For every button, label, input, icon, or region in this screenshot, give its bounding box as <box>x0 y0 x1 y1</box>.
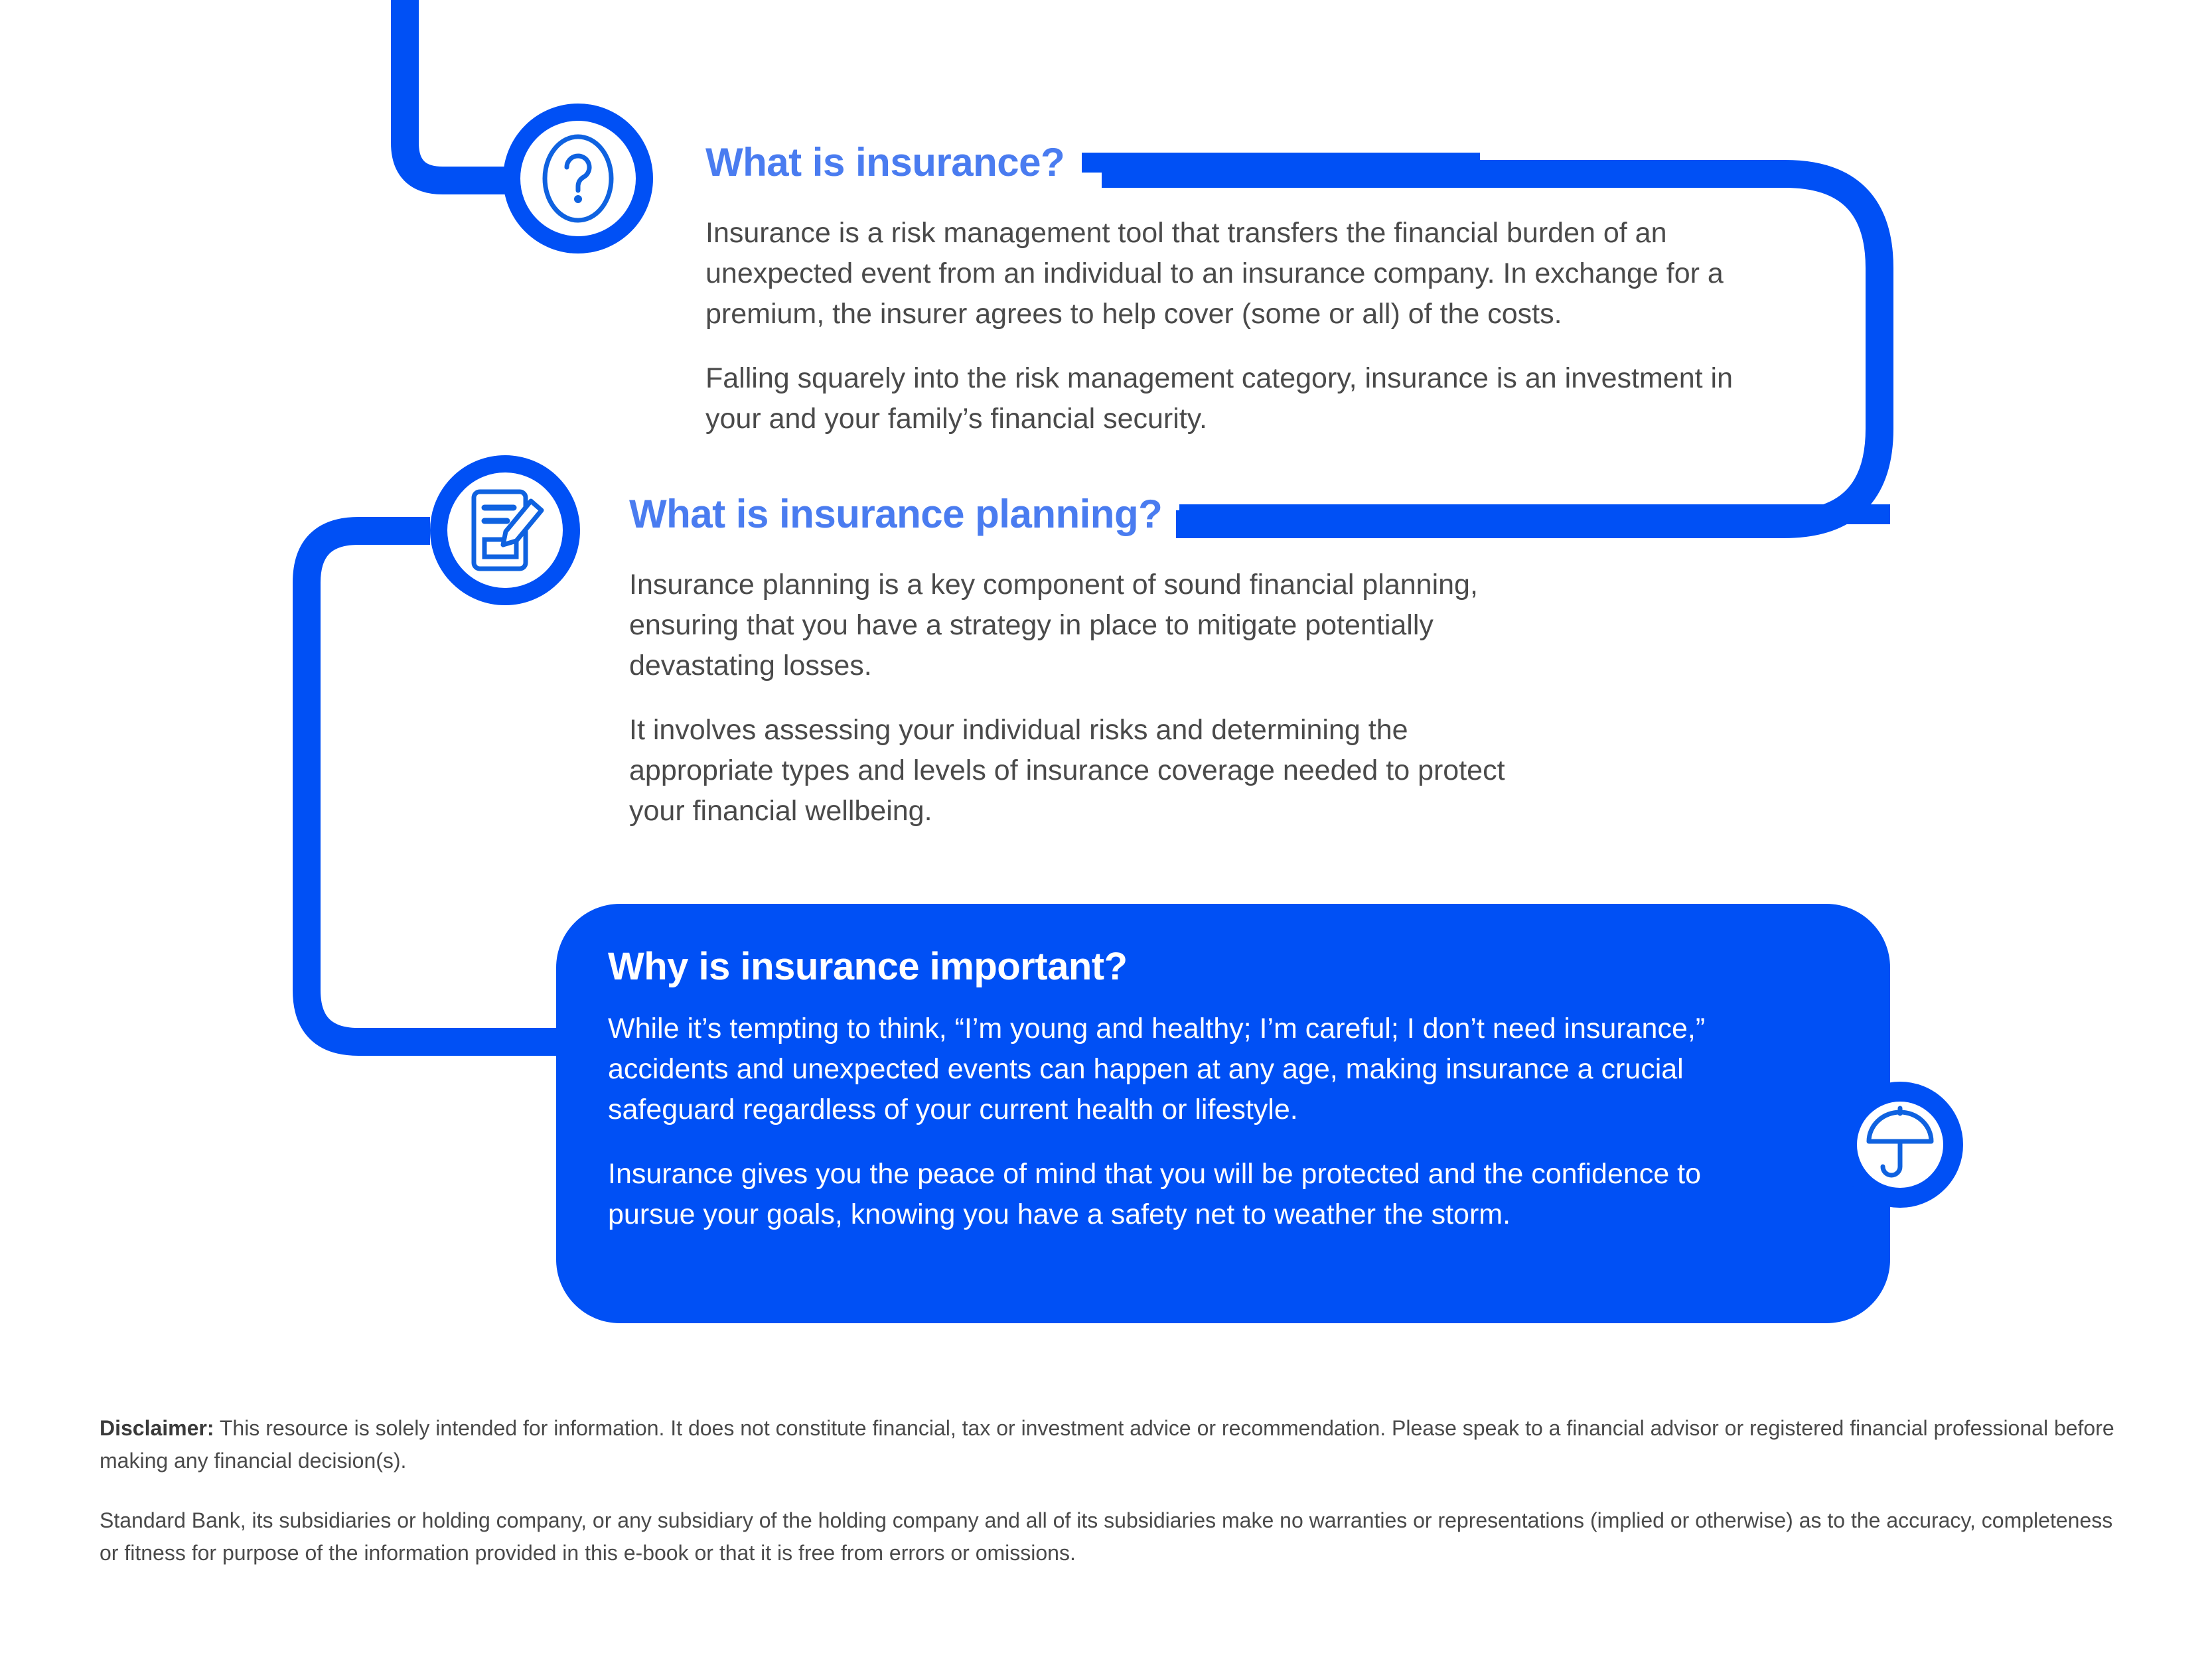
section-what-is-insurance-planning: What is insurance planning? Insurance pl… <box>629 494 1890 831</box>
card-body: While it’s tempting to think, “I’m young… <box>608 1009 1723 1235</box>
section-one-heading-rule <box>1082 153 1480 173</box>
connector-top-stem <box>405 0 512 180</box>
section-one-heading: What is insurance? <box>705 143 1065 182</box>
section-two-body: Insurance planning is a key component of… <box>629 565 1532 831</box>
section-one-heading-row: What is insurance? <box>705 143 1834 182</box>
section-two-heading-row: What is insurance planning? <box>629 494 1890 534</box>
section-one-body: Insurance is a risk management tool that… <box>705 213 1794 439</box>
card-heading: Why is insurance important? <box>608 948 1757 986</box>
connector-section-two-bracket <box>307 531 597 1042</box>
disclaimer-paragraph-1: Disclaimer: This resource is solely inte… <box>100 1412 2117 1477</box>
notepad-pencil-badge <box>430 455 580 605</box>
disclaimer: Disclaimer: This resource is solely inte… <box>100 1412 2117 1569</box>
disclaimer-label: Disclaimer: <box>100 1416 214 1440</box>
notepad-pencil-icon <box>465 486 546 574</box>
section-two-heading: What is insurance planning? <box>629 494 1162 534</box>
section-one-paragraph-1: Insurance is a risk management tool that… <box>705 213 1794 334</box>
card-paragraph-2: Insurance gives you the peace of mind th… <box>608 1154 1723 1235</box>
section-two-paragraph-1: Insurance planning is a key component of… <box>629 565 1532 686</box>
section-what-is-insurance: What is insurance? Insurance is a risk m… <box>705 143 1834 439</box>
disclaimer-paragraph-2: Standard Bank, its subsidiaries or holdi… <box>100 1504 2117 1569</box>
disclaimer-text-1: This resource is solely intended for inf… <box>100 1416 2114 1473</box>
card-paragraph-1: While it’s tempting to think, “I’m young… <box>608 1009 1723 1130</box>
umbrella-icon <box>1864 1106 1937 1184</box>
section-one-paragraph-2: Falling squarely into the risk managemen… <box>705 358 1794 439</box>
section-two-heading-rule <box>1179 504 1890 524</box>
question-mark-badge <box>503 104 653 253</box>
question-mark-icon <box>538 129 618 228</box>
section-two-paragraph-2: It involves assessing your individual ri… <box>629 710 1532 831</box>
umbrella-badge <box>1837 1082 1963 1208</box>
infographic-page: What is insurance? Insurance is a risk m… <box>0 0 2212 1659</box>
section-why-is-insurance-important-card: Why is insurance important? While it’s t… <box>556 904 1890 1323</box>
card-content: Why is insurance important? While it’s t… <box>556 904 1890 1235</box>
